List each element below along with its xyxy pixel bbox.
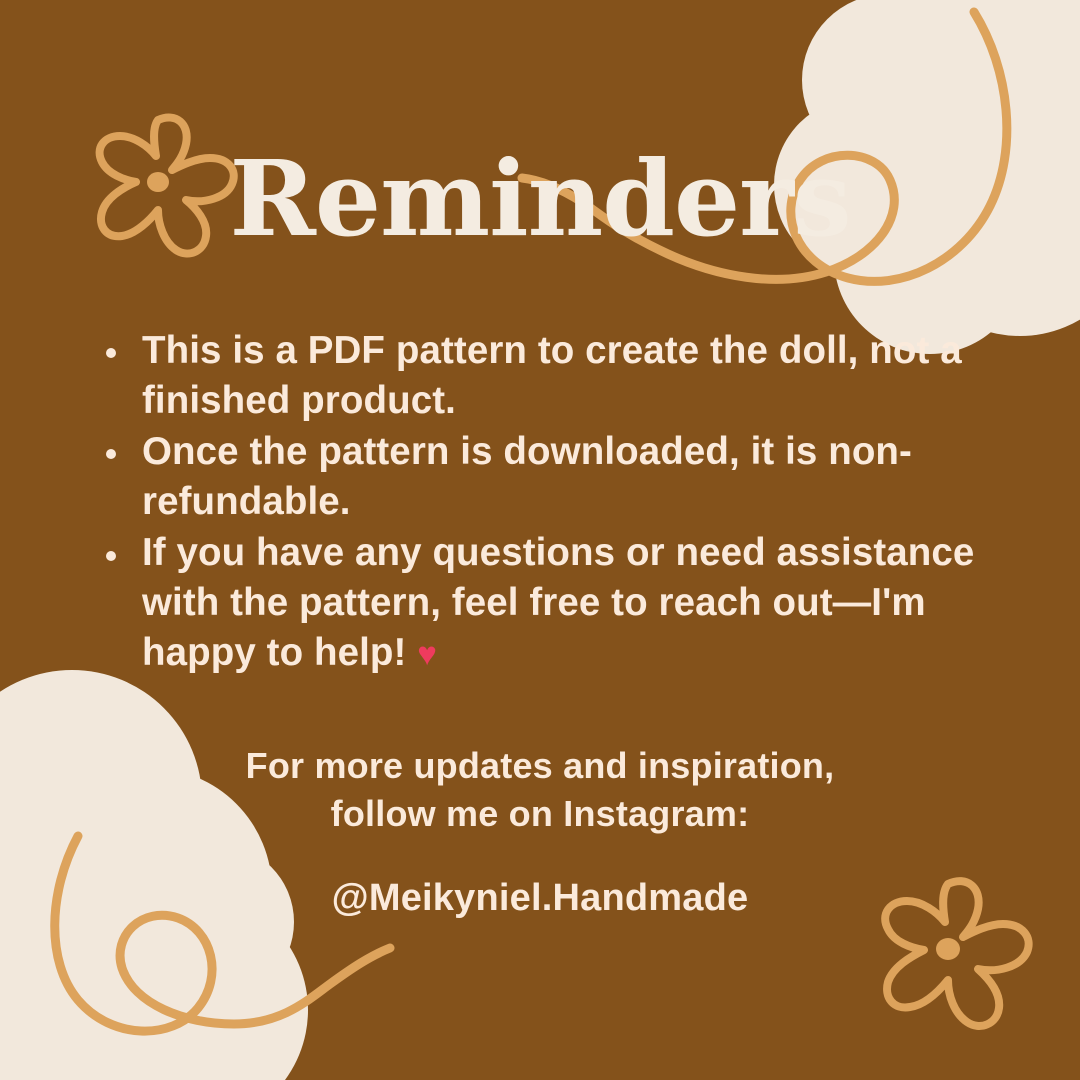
list-item: This is a PDF pattern to create the doll…	[100, 326, 1020, 426]
list-item: If you have any questions or need assist…	[100, 528, 1020, 678]
follow-prompt: For more updates and inspiration, follow…	[0, 742, 1080, 837]
content-layer: Reminders This is a PDF pattern to creat…	[0, 0, 1080, 1080]
list-item: Once the pattern is downloaded, it is no…	[100, 427, 1020, 527]
heart-icon: ♥	[417, 636, 437, 673]
page-title: Reminders	[0, 146, 1080, 252]
reminders-list: This is a PDF pattern to create the doll…	[100, 326, 1020, 679]
instagram-handle[interactable]: @Meikyniel.Handmade	[0, 877, 1080, 920]
follow-prompt-line2: follow me on Instagram:	[0, 790, 1080, 838]
list-item-text: Once the pattern is downloaded, it is no…	[142, 430, 912, 523]
follow-prompt-line1: For more updates and inspiration,	[0, 742, 1080, 790]
bullet-dot-icon	[106, 348, 116, 358]
list-item-text: This is a PDF pattern to create the doll…	[142, 329, 962, 422]
bullet-dot-icon	[106, 551, 116, 561]
list-item-text: If you have any questions or need assist…	[142, 531, 974, 674]
reminders-poster: Reminders This is a PDF pattern to creat…	[0, 0, 1080, 1080]
bullet-dot-icon	[106, 449, 116, 459]
